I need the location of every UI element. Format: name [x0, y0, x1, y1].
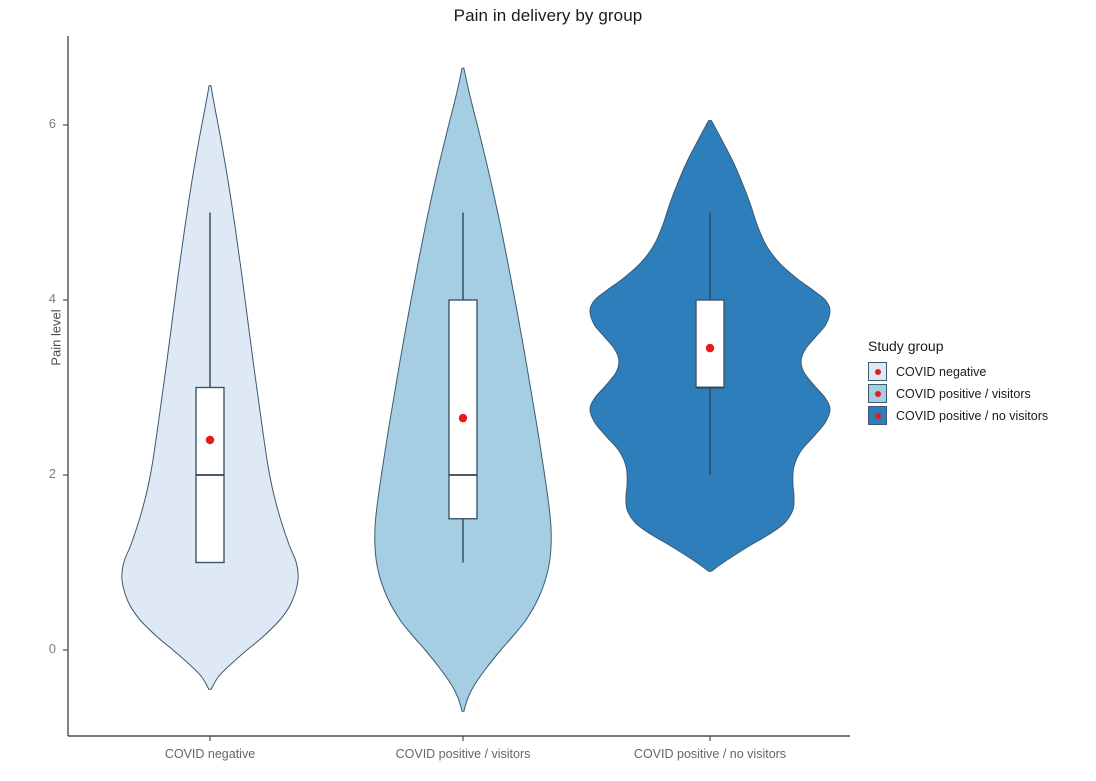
violin-plot-figure: Pain in delivery by group Pain level 024…: [0, 0, 1096, 781]
violin-group-2: [590, 121, 830, 572]
legend: Study group COVID negativeCOVID positive…: [868, 338, 1088, 427]
box-iqr: [449, 300, 477, 519]
mean-point: [459, 414, 467, 422]
legend-item-label: COVID negative: [896, 365, 986, 379]
legend-swatch: [868, 362, 887, 381]
violin-group-1: [375, 68, 551, 711]
mean-point-icon: [875, 369, 881, 375]
legend-swatch: [868, 406, 887, 425]
box-iqr: [696, 300, 724, 388]
violin-group-0: [122, 86, 298, 690]
legend-item-label: COVID positive / no visitors: [896, 409, 1048, 423]
legend-item[interactable]: COVID negative: [868, 361, 1088, 382]
legend-swatch: [868, 384, 887, 403]
legend-title: Study group: [868, 338, 1088, 354]
legend-items: COVID negativeCOVID positive / visitorsC…: [868, 361, 1088, 426]
mean-point: [706, 344, 714, 352]
mean-point-icon: [875, 413, 881, 419]
legend-item[interactable]: COVID positive / no visitors: [868, 405, 1088, 426]
mean-point-icon: [875, 391, 881, 397]
legend-item[interactable]: COVID positive / visitors: [868, 383, 1088, 404]
mean-point: [206, 436, 214, 444]
legend-item-label: COVID positive / visitors: [896, 387, 1031, 401]
